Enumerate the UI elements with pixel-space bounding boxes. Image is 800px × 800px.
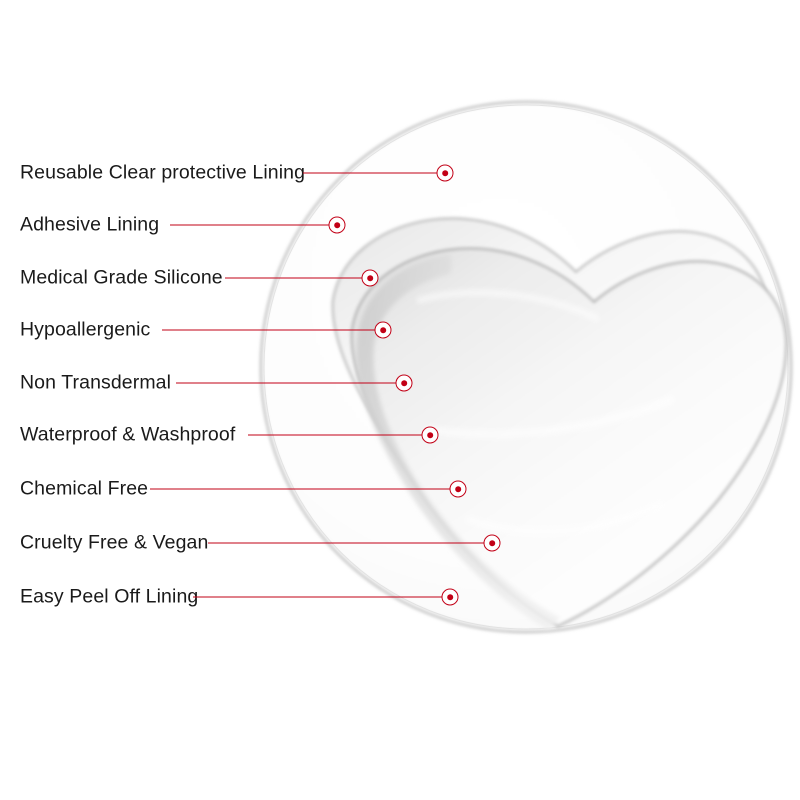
leader-target-icon-waterproof-and-washproof	[422, 427, 439, 444]
leader-target-icon-cruelty-free-and-vegan	[484, 535, 501, 552]
clear-protective-disc-layer	[261, 102, 791, 632]
product-feature-callout-diagram: Reusable Clear protective LiningAdhesive…	[0, 0, 800, 800]
callout-label-cruelty-free-and-vegan: Cruelty Free & Vegan	[20, 533, 208, 553]
callout-label-waterproof-and-washproof: Waterproof & Washproof	[20, 425, 235, 445]
leader-target-icon-hypoallergenic	[375, 322, 392, 339]
leader-line-reusable-clear-protective-lining	[303, 173, 445, 174]
leader-target-icon-chemical-free	[450, 481, 467, 498]
upper-silicone-sheet-layer	[333, 218, 768, 596]
callout-label-reusable-clear-protective-lining: Reusable Clear protective Lining	[20, 163, 305, 183]
callout-label-non-transdermal: Non Transdermal	[20, 373, 171, 393]
callout-label-adhesive-lining: Adhesive Lining	[20, 215, 159, 235]
pad-edge-bevel	[356, 254, 560, 630]
callout-label-medical-grade-silicone: Medical Grade Silicone	[20, 268, 223, 288]
callout-label-hypoallergenic: Hypoallergenic	[20, 320, 150, 340]
leader-line-easy-peel-off-lining	[193, 597, 450, 598]
leader-line-waterproof-and-washproof	[248, 435, 430, 436]
callout-label-easy-peel-off-lining: Easy Peel Off Lining	[20, 587, 198, 607]
leader-line-hypoallergenic	[162, 330, 383, 331]
callout-label-chemical-free: Chemical Free	[20, 479, 148, 499]
leader-line-medical-grade-silicone	[225, 278, 370, 279]
leader-line-cruelty-free-and-vegan	[208, 543, 492, 544]
leader-target-icon-medical-grade-silicone	[362, 270, 379, 287]
leader-line-non-transdermal	[176, 383, 404, 384]
leader-line-adhesive-lining	[170, 225, 337, 226]
leader-target-icon-reusable-clear-protective-lining	[437, 165, 454, 182]
leader-target-icon-non-transdermal	[396, 375, 413, 392]
leader-target-icon-easy-peel-off-lining	[442, 589, 459, 606]
lower-silicone-sheet-layer	[352, 248, 786, 626]
leader-line-chemical-free	[150, 489, 458, 490]
product-illustration	[0, 0, 800, 800]
leader-target-icon-adhesive-lining	[329, 217, 346, 234]
